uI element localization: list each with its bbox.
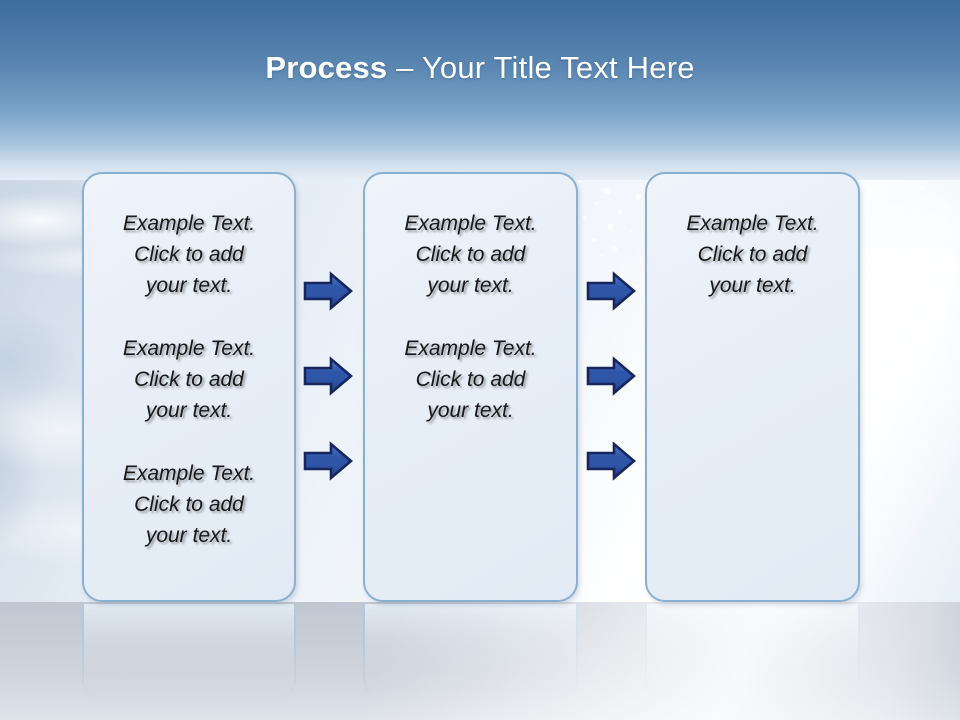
process-box-text[interactable]: Example Text. Click to add your text. — [647, 208, 858, 301]
slide-title-bold: Process — [265, 50, 387, 85]
background-sky-gradient — [0, 0, 960, 180]
process-box[interactable]: Example Text. Click to add your text.Exa… — [363, 172, 578, 602]
process-box-text[interactable]: Example Text. Click to add your text. — [365, 208, 576, 301]
process-box[interactable]: Example Text. Click to add your text.Exa… — [82, 172, 296, 602]
process-box-text[interactable]: Example Text. Click to add your text. — [84, 208, 294, 301]
right-arrow-icon[interactable] — [303, 356, 353, 396]
process-box-content: Example Text. Click to add your text.Exa… — [365, 174, 576, 426]
right-arrow-icon[interactable] — [586, 441, 636, 481]
right-arrow-icon[interactable] — [586, 356, 636, 396]
process-box-text[interactable]: Example Text. Click to add your text. — [84, 333, 294, 426]
right-arrow-icon[interactable] — [303, 441, 353, 481]
slide-title[interactable]: Process – Your Title Text Here — [0, 50, 960, 86]
process-box-text[interactable]: Example Text. Click to add your text. — [365, 333, 576, 426]
slide-canvas: Process – Your Title Text Here Example T… — [0, 0, 960, 720]
process-box[interactable]: Example Text. Click to add your text. — [645, 172, 860, 602]
reflection-floor-highlight — [0, 602, 960, 720]
process-box-content: Example Text. Click to add your text.Exa… — [84, 174, 294, 551]
right-arrow-icon[interactable] — [303, 271, 353, 311]
process-box-text[interactable]: Example Text. Click to add your text. — [84, 458, 294, 551]
process-box-content: Example Text. Click to add your text. — [647, 174, 858, 301]
right-arrow-icon[interactable] — [586, 271, 636, 311]
slide-title-rest: – Your Title Text Here — [387, 50, 694, 85]
